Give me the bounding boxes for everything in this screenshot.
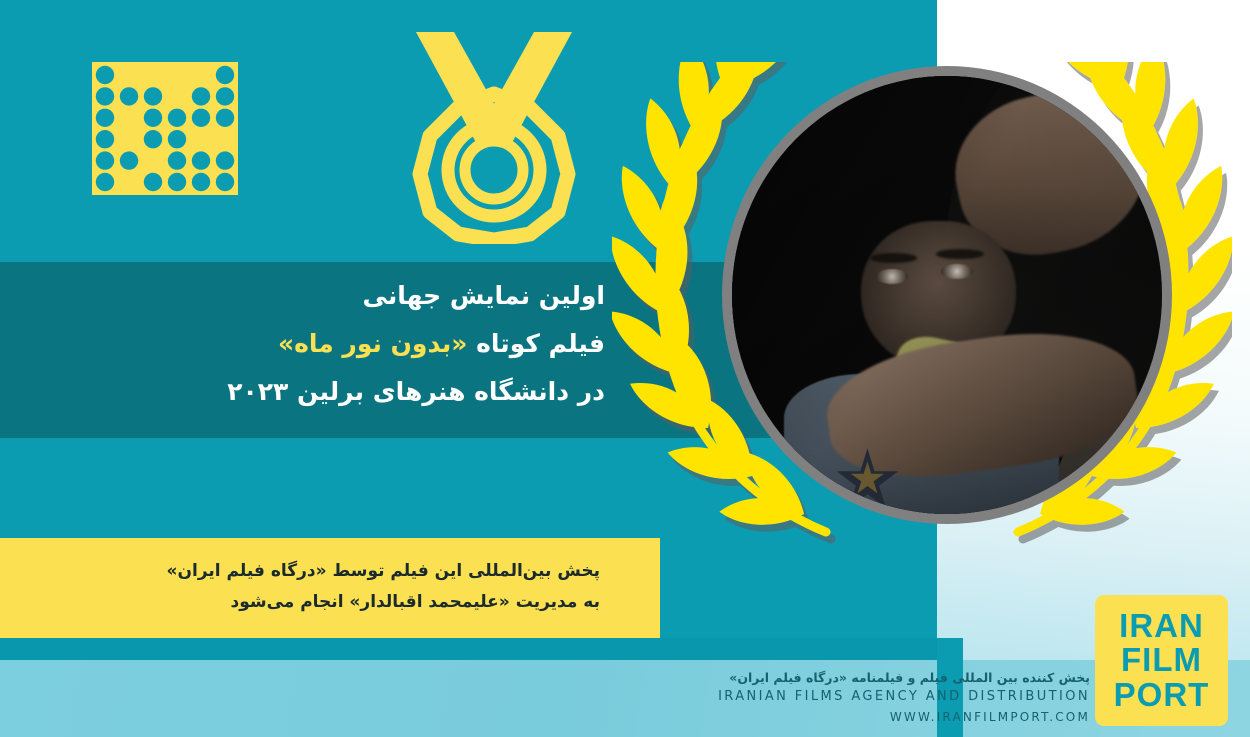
- headline-line-2: فیلم کوتاه «بدون نور ماه»: [85, 320, 605, 368]
- logo-dot: [144, 173, 162, 191]
- logo-dot: [216, 173, 234, 191]
- logo-dot: [96, 151, 114, 169]
- logo-dot: [144, 87, 162, 105]
- headline-line-3: در دانشگاه هنرهای برلین ۲۰۲۳: [85, 368, 605, 416]
- photo-color-grade: [732, 76, 1162, 514]
- logo-dot: [216, 87, 234, 105]
- ifp-logo-line-2: FILM: [1121, 643, 1202, 677]
- logo-dot: [168, 130, 186, 148]
- medal-award-icon: [408, 18, 580, 244]
- film-still-photo: [732, 76, 1162, 514]
- logo-dot: [168, 151, 186, 169]
- logo-dot: [144, 130, 162, 148]
- banner-line-2: به مدیریت «علیمحمد اقبالدار» انجام می‌شو…: [40, 587, 600, 618]
- headline-line-2-prefix: فیلم کوتاه: [467, 329, 605, 358]
- logo-dot: [168, 173, 186, 191]
- logo-dot: [192, 173, 210, 191]
- logo-dot: [96, 109, 114, 127]
- background-band-teal-beside-yellow: [660, 538, 937, 638]
- logo-dot: [144, 109, 162, 127]
- ifp-logo-line-1: IRAN: [1119, 609, 1204, 643]
- footer-block: پخش کننده بین المللی فیلم و فیلمنامه «در…: [330, 668, 1090, 727]
- logo-dot: [192, 109, 210, 127]
- iran-film-port-logo[interactable]: IRAN FILM PORT: [1095, 595, 1228, 726]
- ifp-logo-line-3: PORT: [1114, 678, 1210, 712]
- logo-dot: [96, 87, 114, 105]
- logo-dot: [192, 87, 210, 105]
- film-title: «بدون نور ماه»: [278, 329, 468, 358]
- banner-line-1: پخش بین‌المللی این فیلم توسط «درگاه فیلم…: [40, 556, 600, 587]
- footer-english-line: IRANIAN FILMS AGENCY AND DISTRIBUTION: [330, 687, 1090, 708]
- logo-dot: [96, 173, 114, 191]
- logo-dot: [216, 151, 234, 169]
- logo-dot: [168, 109, 186, 127]
- logo-dot: [96, 66, 114, 84]
- photo-ring-border: [722, 66, 1172, 524]
- logo-dot: [216, 109, 234, 127]
- logo-dot: [216, 66, 234, 84]
- dotted-grid-logo: [92, 62, 238, 195]
- footer-persian-line: پخش کننده بین المللی فیلم و فیلمنامه «در…: [330, 668, 1090, 687]
- headline-line-1: اولین نمایش جهانی: [85, 272, 605, 320]
- headline-block: اولین نمایش جهانی فیلم کوتاه «بدون نور م…: [85, 272, 605, 416]
- logo-dot: [192, 151, 210, 169]
- logo-dot: [120, 87, 138, 105]
- distribution-banner-text: پخش بین‌المللی این فیلم توسط «درگاه فیلم…: [40, 556, 600, 619]
- footer-website-url[interactable]: WWW.IRANFILMPORT.COM: [330, 708, 1090, 727]
- logo-dot: [96, 130, 114, 148]
- poster-canvas: اولین نمایش جهانی فیلم کوتاه «بدون نور م…: [0, 0, 1250, 737]
- logo-dot: [120, 151, 138, 169]
